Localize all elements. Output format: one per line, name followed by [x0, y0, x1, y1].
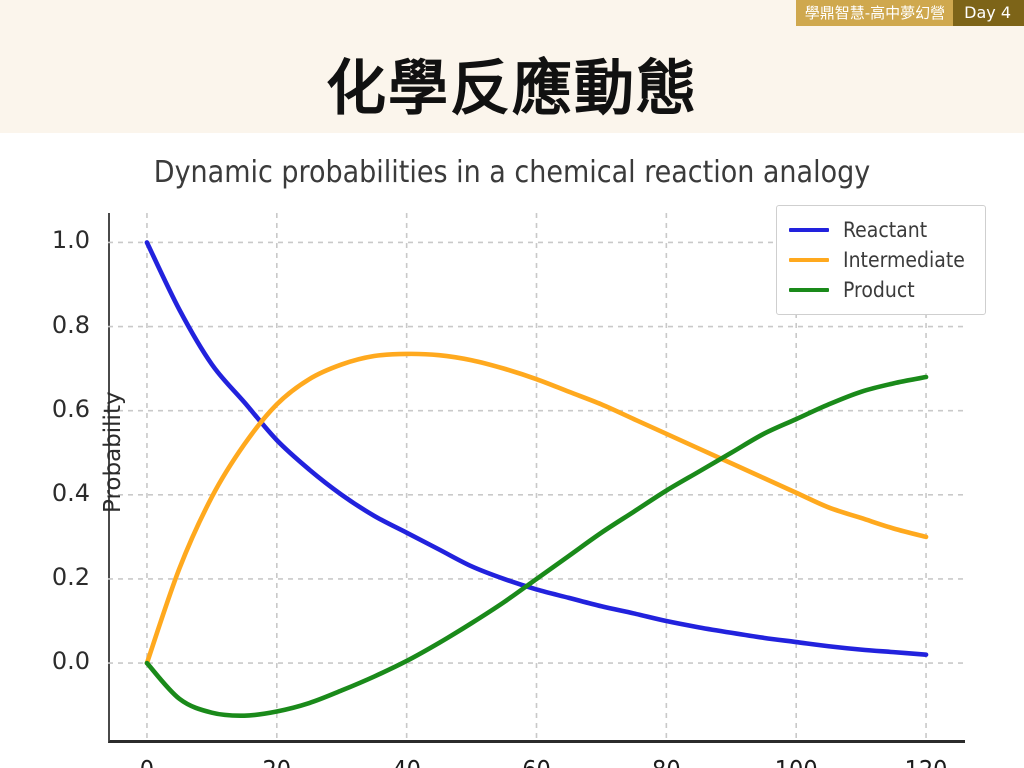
- legend-item-intermediate: Intermediate: [789, 245, 975, 275]
- y-tick-label: 0.8: [52, 311, 90, 339]
- y-tick-label: 0.2: [52, 563, 90, 591]
- x-tick-label: 120: [905, 755, 948, 768]
- slide-header-band: 學鼎智慧-高中夢幻營 Day 4 化學反應動態: [0, 0, 1024, 133]
- day-badge-label: Day 4: [953, 0, 1024, 26]
- slide-root: 學鼎智慧-高中夢幻營 Day 4 化學反應動態 Dynamic probabil…: [0, 0, 1024, 768]
- axis-ticks: [108, 242, 926, 743]
- course-badge: 學鼎智慧-高中夢幻營 Day 4: [796, 0, 1024, 26]
- legend-swatch-intermediate: [789, 258, 829, 262]
- x-tick-label: 80: [652, 755, 681, 768]
- chart-legend: Reactant Intermediate Product: [776, 205, 986, 315]
- chart-title: Dynamic probabilities in a chemical reac…: [0, 155, 1024, 190]
- course-badge-label: 學鼎智慧-高中夢幻營: [796, 0, 953, 26]
- y-axis-label: Probability: [100, 391, 126, 513]
- page-title: 化學反應動態: [0, 40, 1024, 127]
- y-tick-label: 0.6: [52, 395, 90, 423]
- legend-label-reactant: Reactant: [843, 218, 927, 242]
- y-tick-label: 0.0: [52, 647, 90, 675]
- chart-figure: Dynamic probabilities in a chemical reac…: [0, 133, 1024, 768]
- x-tick-label: 60: [522, 755, 551, 768]
- x-tick-label: 20: [262, 755, 291, 768]
- x-tick-label: 0: [140, 755, 154, 768]
- legend-label-intermediate: Intermediate: [843, 248, 965, 272]
- legend-item-product: Product: [789, 275, 975, 305]
- plot-area: 0.00.20.40.60.81.0 020406080100120 Proba…: [108, 213, 965, 743]
- x-tick-label: 100: [775, 755, 818, 768]
- legend-item-reactant: Reactant: [789, 215, 975, 245]
- y-tick-label: 1.0: [52, 226, 90, 254]
- legend-swatch-product: [789, 288, 829, 292]
- y-tick-label: 0.4: [52, 479, 90, 507]
- x-tick-label: 40: [392, 755, 421, 768]
- legend-label-product: Product: [843, 278, 915, 302]
- legend-swatch-reactant: [789, 228, 829, 232]
